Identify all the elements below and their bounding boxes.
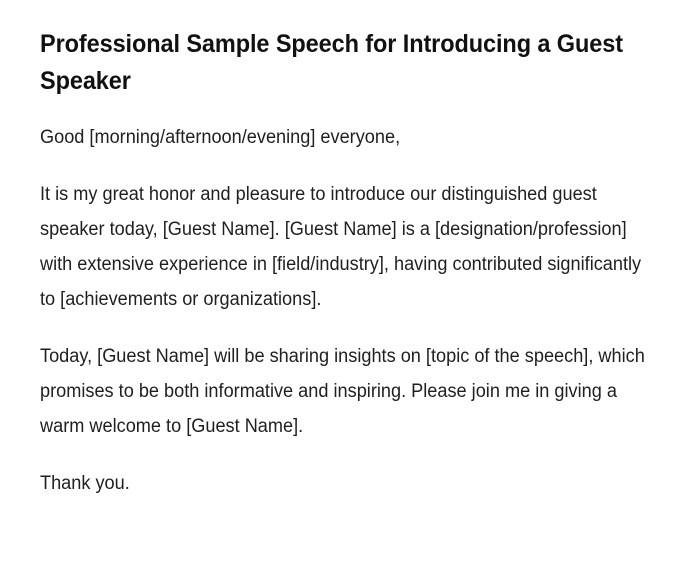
paragraph-topic: Today, [Guest Name] will be sharing insi… — [40, 339, 660, 444]
paragraph-introduction: It is my great honor and pleasure to int… — [40, 177, 660, 317]
document-page: Professional Sample Speech for Introduci… — [0, 0, 700, 570]
paragraph-closing: Thank you. — [40, 466, 660, 501]
page-title: Professional Sample Speech for Introduci… — [40, 26, 658, 100]
paragraph-greeting: Good [morning/afternoon/evening] everyon… — [40, 120, 660, 155]
